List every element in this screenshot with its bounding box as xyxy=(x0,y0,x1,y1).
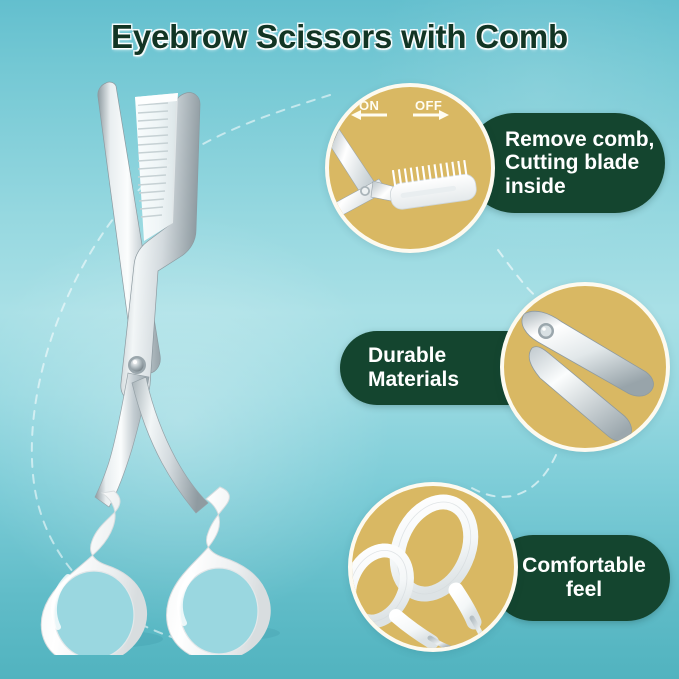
callout-remove-comb-pill: Remove comb, Cutting blade inside xyxy=(465,113,665,213)
callout-durable-label: Durable Materials xyxy=(368,344,459,391)
badge-off-label: OFF xyxy=(415,98,442,113)
callout-remove-comb-label: Remove comb, Cutting blade inside xyxy=(505,128,654,199)
page-title: Eyebrow Scissors with Comb xyxy=(0,18,679,56)
main-product-image xyxy=(10,55,320,655)
callout-comfortable-label: Comfortable feel xyxy=(522,554,646,601)
callout-durable-circle xyxy=(500,282,670,452)
product-marketing-image: Eyebrow Scissors with Comb xyxy=(0,0,679,679)
badge-on-label: ON xyxy=(359,98,379,113)
callout-comfortable-circle xyxy=(348,482,518,652)
callout-remove-comb-circle: ON OFF xyxy=(325,83,495,253)
